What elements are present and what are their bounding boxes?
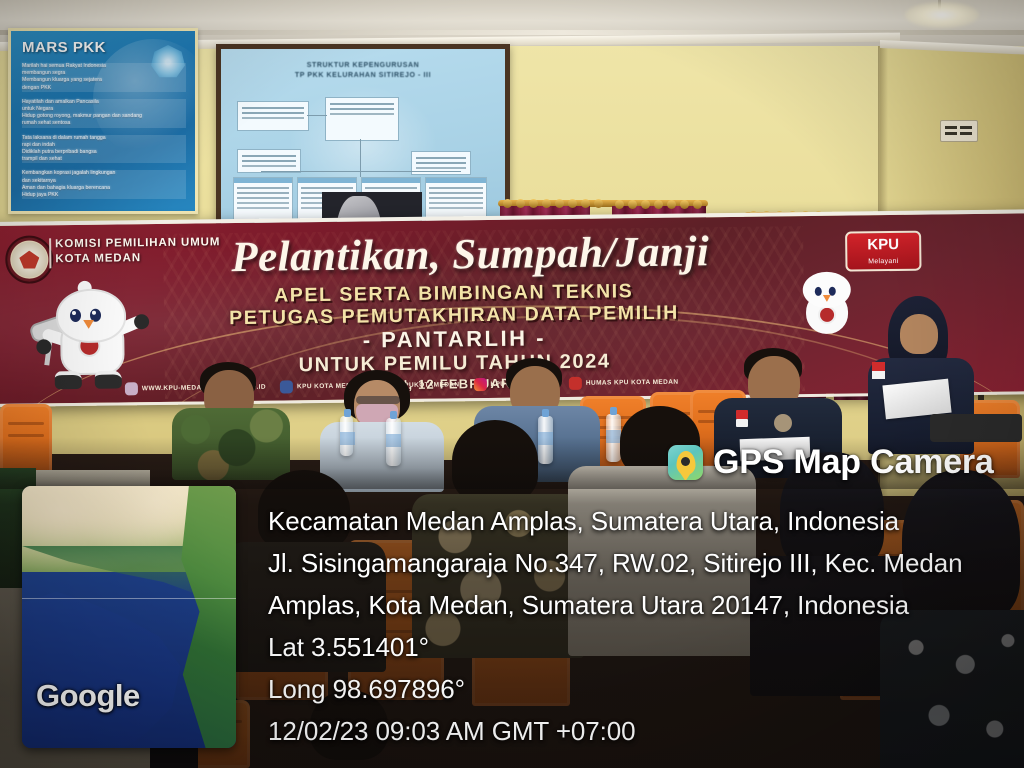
kpu-mascot-right: [790, 271, 865, 350]
banner-divider: [49, 238, 51, 268]
chart-box: [237, 149, 301, 173]
gps-app-header: GPS Map Camera: [668, 443, 994, 482]
kpu-badge-main: KPU: [867, 236, 899, 253]
location-pin-icon: [676, 451, 695, 475]
board-title-line1: STRUKTUR KEPENGURUSAN: [307, 62, 420, 69]
banner-organization: KOMISI PEMILIHAN UMUM KOTA MEDAN: [55, 235, 221, 267]
poster-verse-line: Hidup jaya PKK: [22, 192, 186, 199]
gps-line-longitude: Long 98.697896°: [268, 668, 1012, 710]
water-bottle: [386, 418, 401, 466]
ceiling-light: [905, 2, 979, 28]
gps-app-title: GPS Map Camera: [713, 443, 994, 482]
poster-verse: Marilah hai semua Rakyat Indonesia memba…: [22, 63, 186, 92]
flag-patch-icon: [872, 371, 885, 379]
poster-verse-line: Hayatilah dan amalkan Pancasila: [22, 99, 186, 106]
gps-line-address-2: Amplas, Kota Medan, Sumatera Utara 20147…: [268, 584, 1012, 626]
flag-patch-icon: [872, 362, 885, 371]
gps-line-timestamp: 12/02/23 09:03 AM GMT +07:00: [268, 710, 1012, 752]
person-military-officer: [178, 362, 288, 472]
water-bottle: [340, 416, 353, 456]
gps-line-address-1: Jl. Sisingamangaraja No.347, RW.02, Siti…: [268, 542, 1012, 584]
chair: [0, 404, 52, 474]
poster-verse-line: Membangun kluarga yang sejatera: [22, 77, 186, 84]
gps-line-locality: Kecamatan Medan Amplas, Sumatera Utara, …: [268, 500, 1012, 542]
map-thumbnail[interactable]: Google: [22, 486, 236, 748]
gps-line-latitude: Lat 3.551401°: [268, 626, 1012, 668]
board-title: STRUKTUR KEPENGURUSAN TP PKK KELURAHAN S…: [221, 61, 505, 81]
gps-map-camera-photo: MARS PKK Marilah hai semua Rakyat Indone…: [0, 0, 1024, 768]
kpu-badge-sub: Melayani: [847, 253, 919, 271]
kpu-logo-icon: [5, 235, 54, 284]
gps-info-block: Kecamatan Medan Amplas, Sumatera Utara, …: [268, 500, 1012, 752]
gps-map-camera-icon: [668, 445, 703, 480]
banner-org-line2: KOTA MEDAN: [55, 252, 141, 265]
laptop-device: [930, 414, 1022, 442]
social-label: HUMAS KPU KOTA MEDAN: [586, 378, 679, 386]
website-icon: [125, 382, 138, 395]
kpu-emblem-icon: [774, 414, 792, 432]
eyeglasses-icon: [356, 396, 400, 404]
poster-verse: Tata laksana di dalam rumah tangga rapi …: [22, 135, 186, 164]
banner-org-line1: KOMISI PEMILIHAN UMUM: [55, 236, 220, 250]
poster-verse-line: Kembangkan koprasi jagalah lingkungan: [22, 170, 186, 177]
poster-verse-line: dan sekitarnya: [22, 178, 186, 185]
poster-verse-line: rumah sehat sentosa: [22, 120, 186, 127]
google-watermark: Google: [36, 678, 140, 714]
wall-vent: [940, 120, 978, 142]
map-gridline: [22, 598, 236, 599]
poster-verse-line: Tata laksana di dalam rumah tangga: [22, 135, 186, 142]
poster-verse-line: Aman dan bahagia kluarga berencana: [22, 185, 186, 192]
poster-verse-line: rapi dan indah: [22, 142, 186, 149]
poster-verse: Kembangkan koprasi jagalah lingkungan da…: [22, 170, 186, 199]
poster-verse: Hayatilah dan amalkan Pancasila untuk Ne…: [22, 99, 186, 128]
chart-box: [325, 97, 399, 141]
poster-verse-line: dengan PKK: [22, 85, 186, 92]
poster-verse-line: trampil dan sehat: [22, 156, 186, 163]
chart-box: [237, 101, 309, 131]
banner-title: Pelantikan, Sumpah/Janji: [231, 227, 710, 283]
poster-mars-pkk: MARS PKK Marilah hai semua Rakyat Indone…: [8, 28, 198, 214]
chart-box-detail: [233, 177, 293, 223]
board-title-line2: TP PKK KELURAHAN SITIREJO - III: [295, 72, 431, 79]
kpu-badge: KPU Melayani: [845, 231, 921, 272]
